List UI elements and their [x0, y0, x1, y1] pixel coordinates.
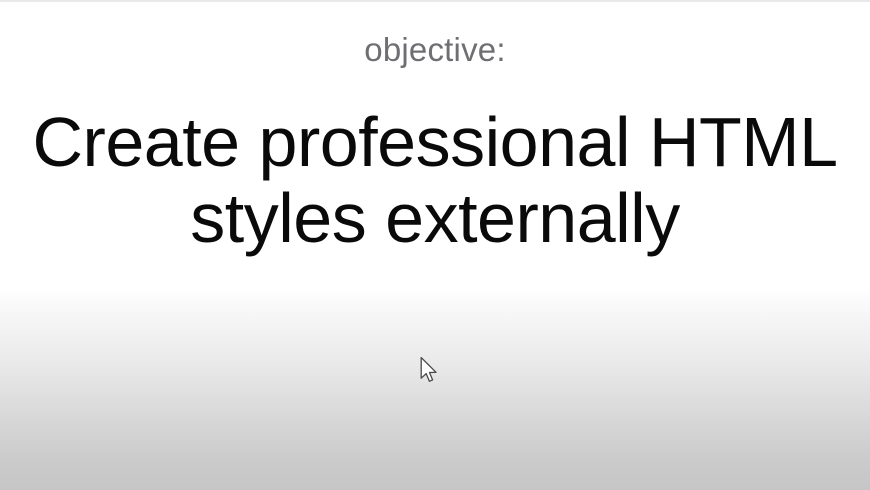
- background-gradient: [0, 288, 870, 490]
- slide-screen: objective: Create professional HTML styl…: [0, 0, 870, 490]
- slide-content: objective: Create professional HTML styl…: [0, 0, 870, 256]
- page-title: Create professional HTML styles external…: [0, 66, 870, 256]
- heading-line-1: Create professional HTML: [0, 104, 870, 180]
- heading-line-2: styles externally: [0, 180, 870, 256]
- objective-label: objective:: [0, 0, 870, 66]
